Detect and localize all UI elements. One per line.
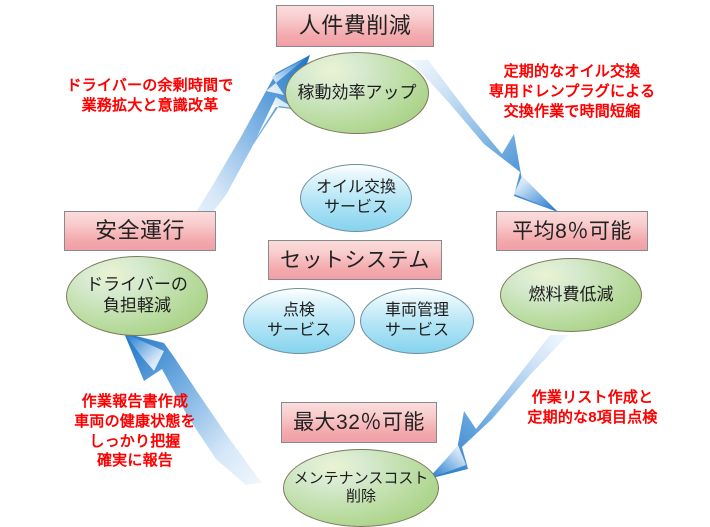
center-box-label: セットシステム [280, 250, 430, 271]
title-box-labor-cost-reduction[interactable]: 人件費削減 [276, 5, 434, 47]
title-box-safe-driving[interactable]: 安全運行 [64, 211, 216, 251]
title-box-label: 安全運行 [95, 220, 185, 242]
annotation-top-left: ドライバーの余剰時間で 業務拡大と意識改革 [55, 76, 245, 116]
service-ellipse-oil-change[interactable]: オイル交換 サービス [300, 164, 412, 232]
outcome-ellipse-label: メンテナンスコスト 削除 [294, 470, 429, 507]
title-box-max-32-percent[interactable]: 最大32％可能 [281, 402, 437, 443]
service-ellipse-label: 点検 サービス [267, 301, 331, 341]
annotation-bottom-left: 作業報告書作成 車両の健康状態を しっかり把握 確実に報告 [45, 392, 225, 471]
service-ellipse-inspection[interactable]: 点検 サービス [243, 288, 355, 354]
title-box-average-8-percent[interactable]: 平均8％可能 [496, 211, 648, 251]
service-ellipse-label: オイル交換 サービス [316, 178, 396, 218]
title-box-label: 平均8％可能 [512, 221, 632, 242]
service-ellipse-label: 車両管理 サービス [385, 301, 449, 341]
outcome-ellipse-maintenance-cost-cut[interactable]: メンテナンスコスト 削除 [283, 449, 439, 527]
title-box-label: 人件費削減 [299, 15, 412, 37]
diagram-canvas: 人件費削減 安全運行 平均8％可能 最大32％可能 セットシステム 稼動効率アッ… [0, 0, 710, 520]
outcome-ellipse-operation-efficiency-up[interactable]: 稼動効率アップ [285, 52, 429, 134]
outcome-ellipse-label: 稼動効率アップ [298, 83, 417, 104]
title-box-label: 最大32％可能 [293, 412, 425, 433]
outcome-ellipse-fuel-cost-reduction[interactable]: 燃料費低減 [500, 258, 642, 332]
outcome-ellipse-label: 燃料費低減 [529, 285, 614, 306]
outcome-ellipse-label: ドライバーの 負担軽減 [86, 275, 188, 316]
service-ellipse-vehicle-management[interactable]: 車両管理 サービス [360, 288, 474, 354]
center-box-set-system[interactable]: セットシステム [268, 240, 442, 280]
outcome-ellipse-driver-burden-reduction[interactable]: ドライバーの 負担軽減 [66, 256, 208, 336]
annotation-top-right: 定期的なオイル交換 専用ドレンプラグによる 交換作業で時間短縮 [472, 62, 672, 121]
annotation-bottom-right: 作業リスト作成と 定期的な8項目点検 [500, 388, 685, 428]
